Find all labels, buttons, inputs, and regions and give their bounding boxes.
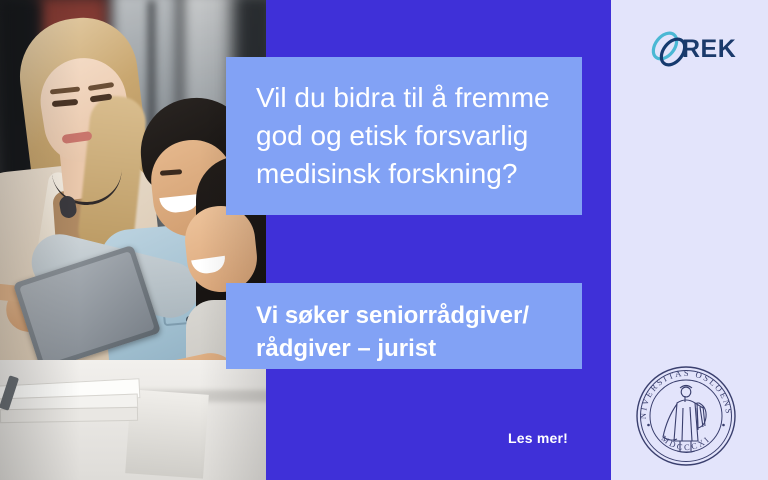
headline-line-3: medisinsk forskning? [256, 155, 556, 193]
rek-wordmark: REK [682, 35, 736, 63]
job-title-line-2: rådgiver – jurist [256, 332, 556, 365]
read-more-link[interactable]: Les mer! [508, 430, 568, 446]
recruitment-banner: REK Vil du bidra til å fremme god og eti… [0, 0, 768, 480]
headline-line-1: Vil du bidra til å fremme [256, 79, 556, 117]
rek-logo: REK [648, 27, 740, 71]
job-title-line-1: Vi søker seniorrådgiver/ [256, 299, 556, 332]
headline-box: Vil du bidra til å fremme god og etisk f… [226, 57, 582, 215]
seal-ring-text: UNIVERSITAS OSLOENSIS [633, 363, 734, 419]
uio-seal: UNIVERSITAS OSLOENSIS MDCCCXI [633, 363, 739, 469]
job-title-box: Vi søker seniorrådgiver/ rådgiver – juri… [226, 283, 582, 369]
seal-year-text: MDCCCXI [660, 434, 713, 452]
headline-line-2: god og etisk forsvarlig [256, 117, 556, 155]
